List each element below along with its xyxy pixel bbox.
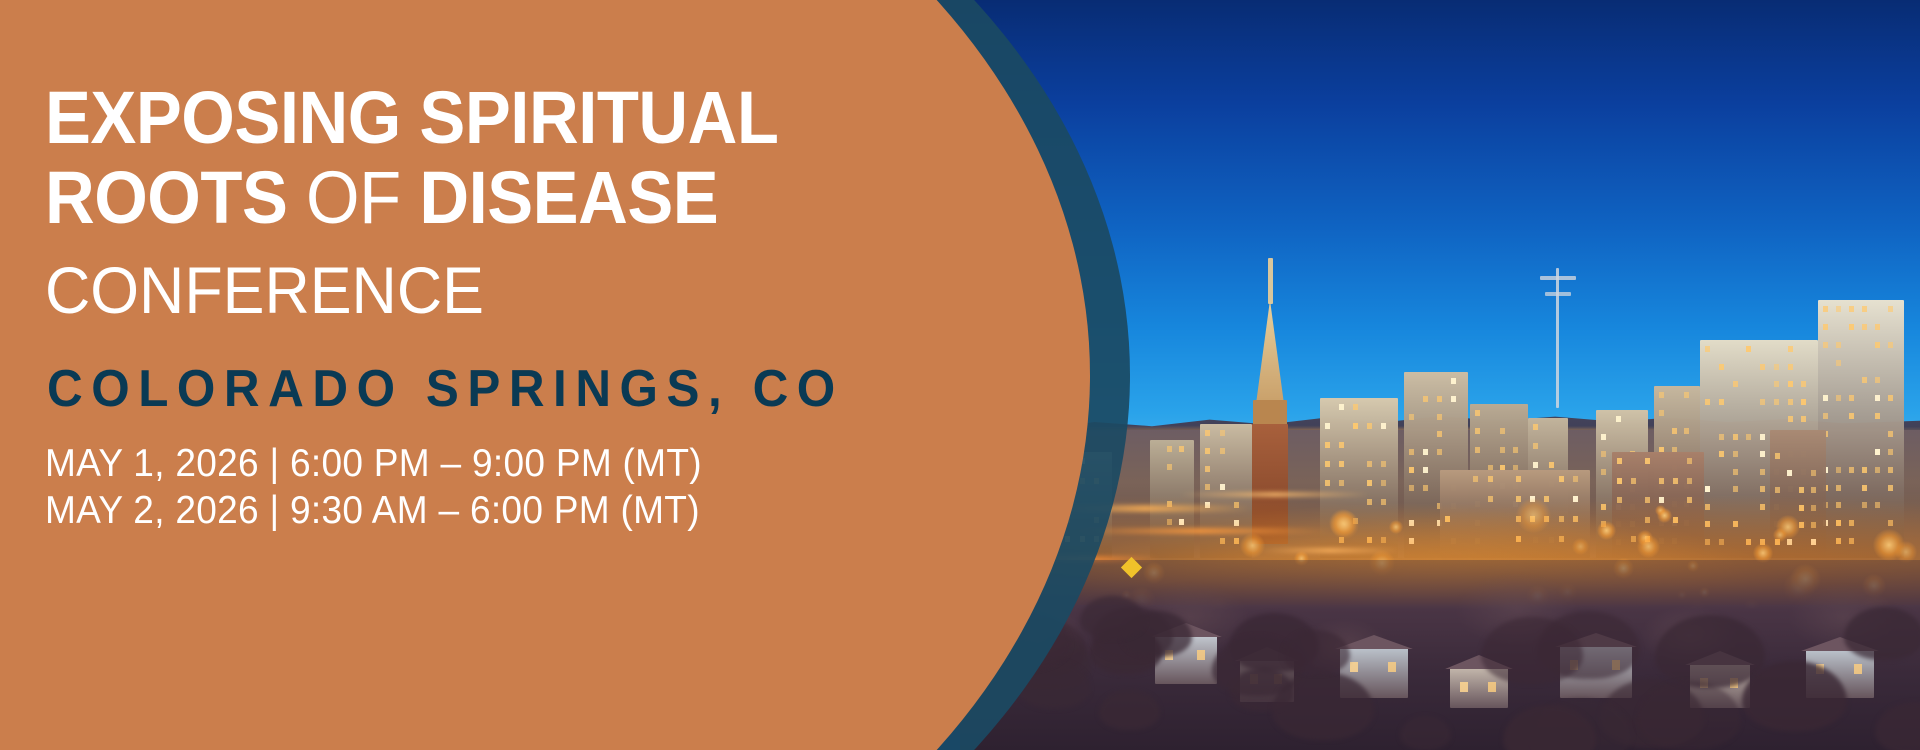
headline-conference: CONFERENCE (45, 254, 484, 326)
headline-disease: DISEASE (419, 156, 718, 239)
headline-roots: ROOTS (45, 156, 287, 239)
schedule-block: MAY 1, 2026 | 6:00 PM – 9:00 PM (MT) MAY… (45, 440, 736, 534)
conference-banner: EXPOSING SPIRITUAL ROOTS OF DISEASE CONF… (0, 0, 1920, 750)
headline-line-1: EXPOSING SPIRITUAL (45, 78, 778, 158)
headline-line-2: ROOTS OF DISEASE (45, 158, 718, 238)
banner-copy: EXPOSING SPIRITUAL ROOTS OF DISEASE CONF… (45, 0, 1005, 750)
schedule-day-2: MAY 2, 2026 | 9:30 AM – 6:00 PM (MT) (45, 487, 702, 534)
schedule-day-1: MAY 1, 2026 | 6:00 PM – 9:00 PM (MT) (45, 440, 702, 487)
location-label: COLORADO SPRINGS, CO (47, 360, 844, 418)
headline-of: OF (287, 156, 419, 239)
